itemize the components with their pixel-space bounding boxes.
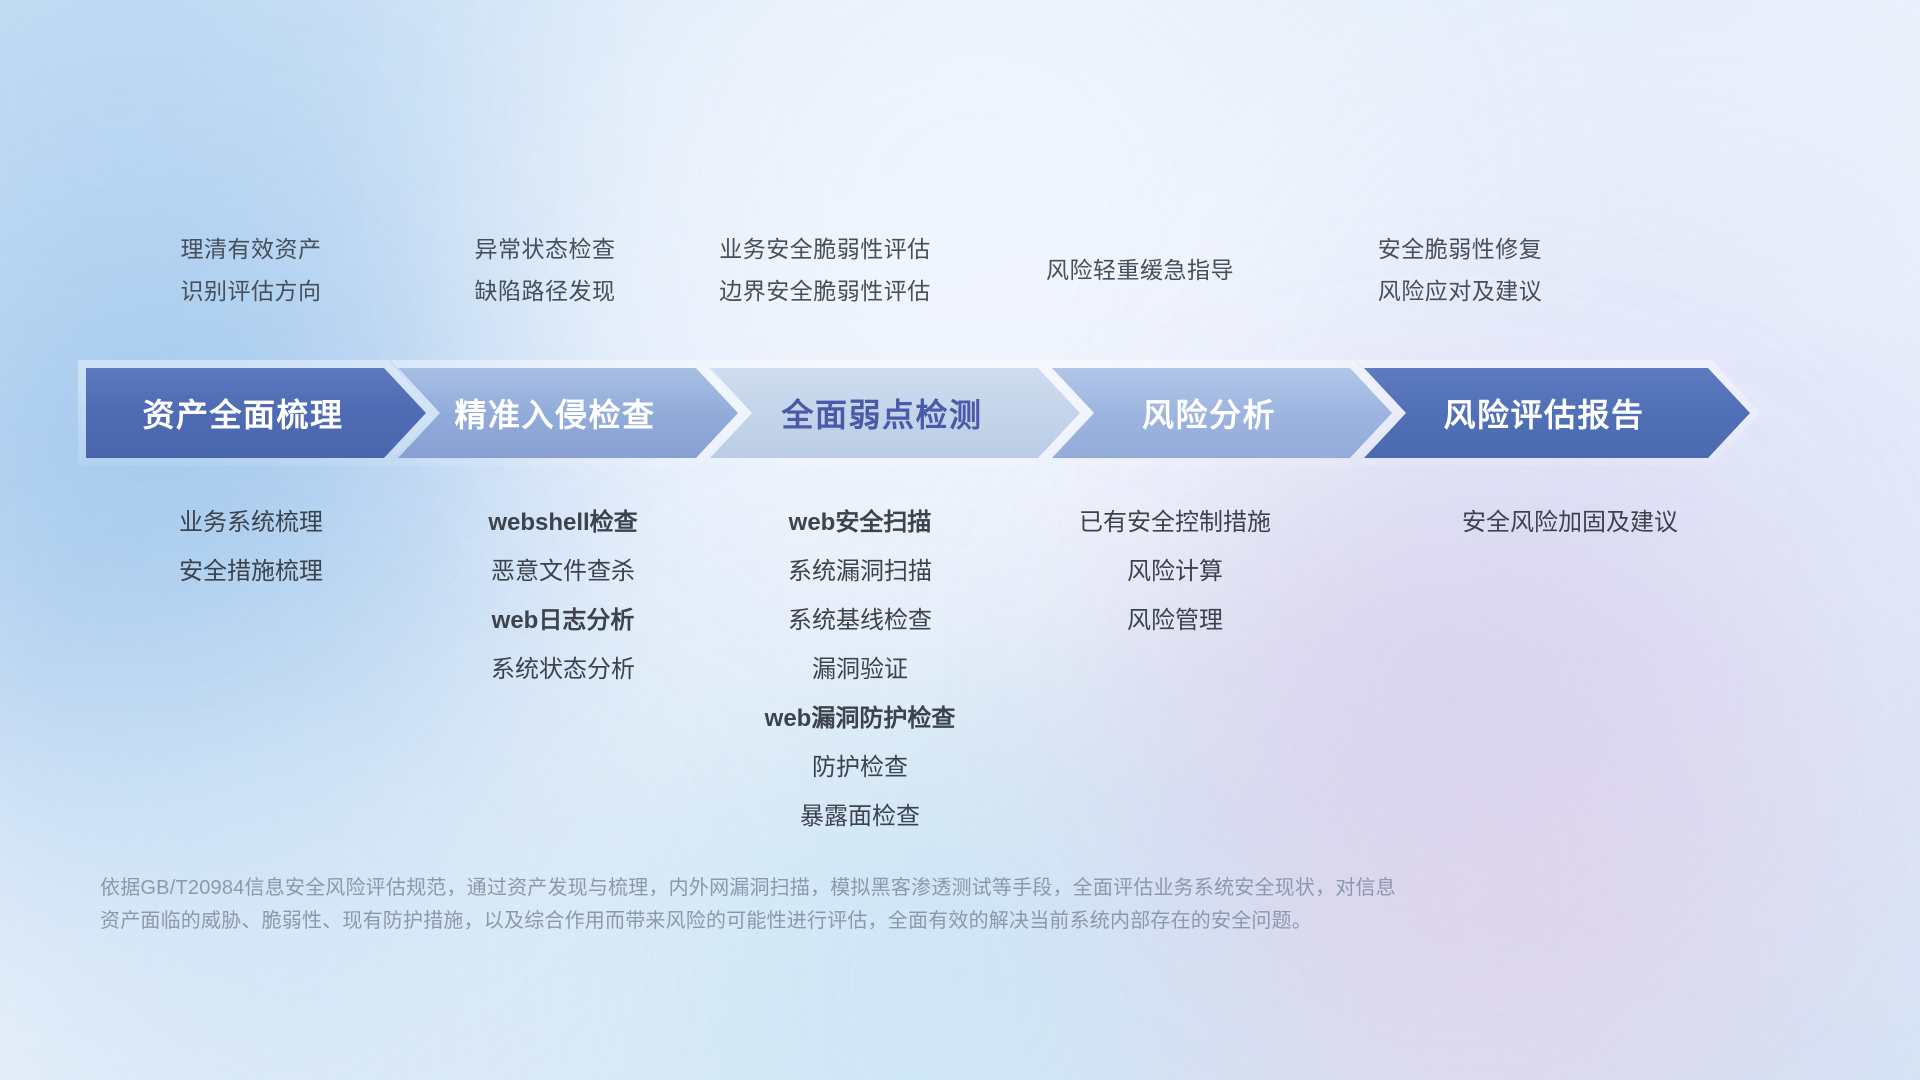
list-item: 已有安全控制措施 <box>1000 498 1350 547</box>
footer-line: 资产面临的威胁、脆弱性、现有防护措施，以及综合作用而带来风险的可能性进行评估，全… <box>100 905 1650 938</box>
chevron-label: 精准入侵检查 <box>398 390 738 436</box>
top-notes-risk-report: 安全脆弱性修复 风险应对及建议 <box>1245 228 1675 312</box>
list-item: 风险管理 <box>1000 596 1350 645</box>
top-note-text: 识别评估方向 <box>86 270 416 312</box>
list-item: 安全措施梳理 <box>86 547 416 596</box>
slide-canvas: 理清有效资产 识别评估方向 异常状态检查 缺陷路径发现 业务安全脆弱性评估 边界… <box>0 0 1920 1080</box>
list-item: 暴露面检查 <box>665 792 1055 841</box>
top-notes-row: 理清有效资产 识别评估方向 异常状态检查 缺陷路径发现 业务安全脆弱性评估 边界… <box>0 228 1920 338</box>
chevron-step-asset-inventory[interactable]: 资产全面梳理 <box>86 368 426 458</box>
list-item: 安全风险加固及建议 <box>1380 498 1760 547</box>
list-item: 防护检查 <box>665 743 1055 792</box>
list-item: 系统漏洞扫描 <box>665 547 1055 596</box>
list-item: web漏洞防护检查 <box>665 694 1055 743</box>
footer-line: 依据GB/T20984信息安全风险评估规范，通过资产发现与梳理，内外网漏洞扫描，… <box>100 872 1650 905</box>
chevron-step-weakness-detection[interactable]: 全面弱点检测 <box>710 368 1080 458</box>
top-note-text: 安全脆弱性修复 <box>1245 228 1675 270</box>
top-note-text: 风险应对及建议 <box>1245 270 1675 312</box>
process-chevron-band: 资产全面梳理 精准入侵检查 全面弱点检测 风险分析 风险评估报告 <box>86 368 1840 458</box>
diagram-content: 理清有效资产 识别评估方向 异常状态检查 缺陷路径发现 业务安全脆弱性评估 边界… <box>0 0 1920 1080</box>
chevron-label: 资产全面梳理 <box>86 390 426 436</box>
footer-description: 依据GB/T20984信息安全风险评估规范，通过资产发现与梳理，内外网漏洞扫描，… <box>100 872 1650 938</box>
chevron-step-risk-report[interactable]: 风险评估报告 <box>1364 368 1750 458</box>
top-notes-asset-inventory: 理清有效资产 识别评估方向 <box>86 228 416 312</box>
chevron-label: 全面弱点检测 <box>710 390 1080 436</box>
top-note-text: 理清有效资产 <box>86 228 416 270</box>
chevron-step-risk-analysis[interactable]: 风险分析 <box>1052 368 1392 458</box>
chevron-label: 风险评估报告 <box>1364 390 1750 436</box>
list-item: 业务系统梳理 <box>86 498 416 547</box>
bottom-list-risk-report: 安全风险加固及建议 <box>1380 498 1760 547</box>
list-item: 风险计算 <box>1000 547 1350 596</box>
bottom-list-risk-analysis: 已有安全控制措施 风险计算 风险管理 <box>1000 498 1350 645</box>
list-item: web安全扫描 <box>665 498 1055 547</box>
list-item: 系统基线检查 <box>665 596 1055 645</box>
chevron-label: 风险分析 <box>1052 390 1392 436</box>
bottom-list-weakness-detection: web安全扫描 系统漏洞扫描 系统基线检查 漏洞验证 web漏洞防护检查 防护检… <box>665 498 1055 841</box>
list-item: 漏洞验证 <box>665 645 1055 694</box>
chevron-step-intrusion-check[interactable]: 精准入侵检查 <box>398 368 738 458</box>
bottom-list-asset-inventory: 业务系统梳理 安全措施梳理 <box>86 498 416 596</box>
